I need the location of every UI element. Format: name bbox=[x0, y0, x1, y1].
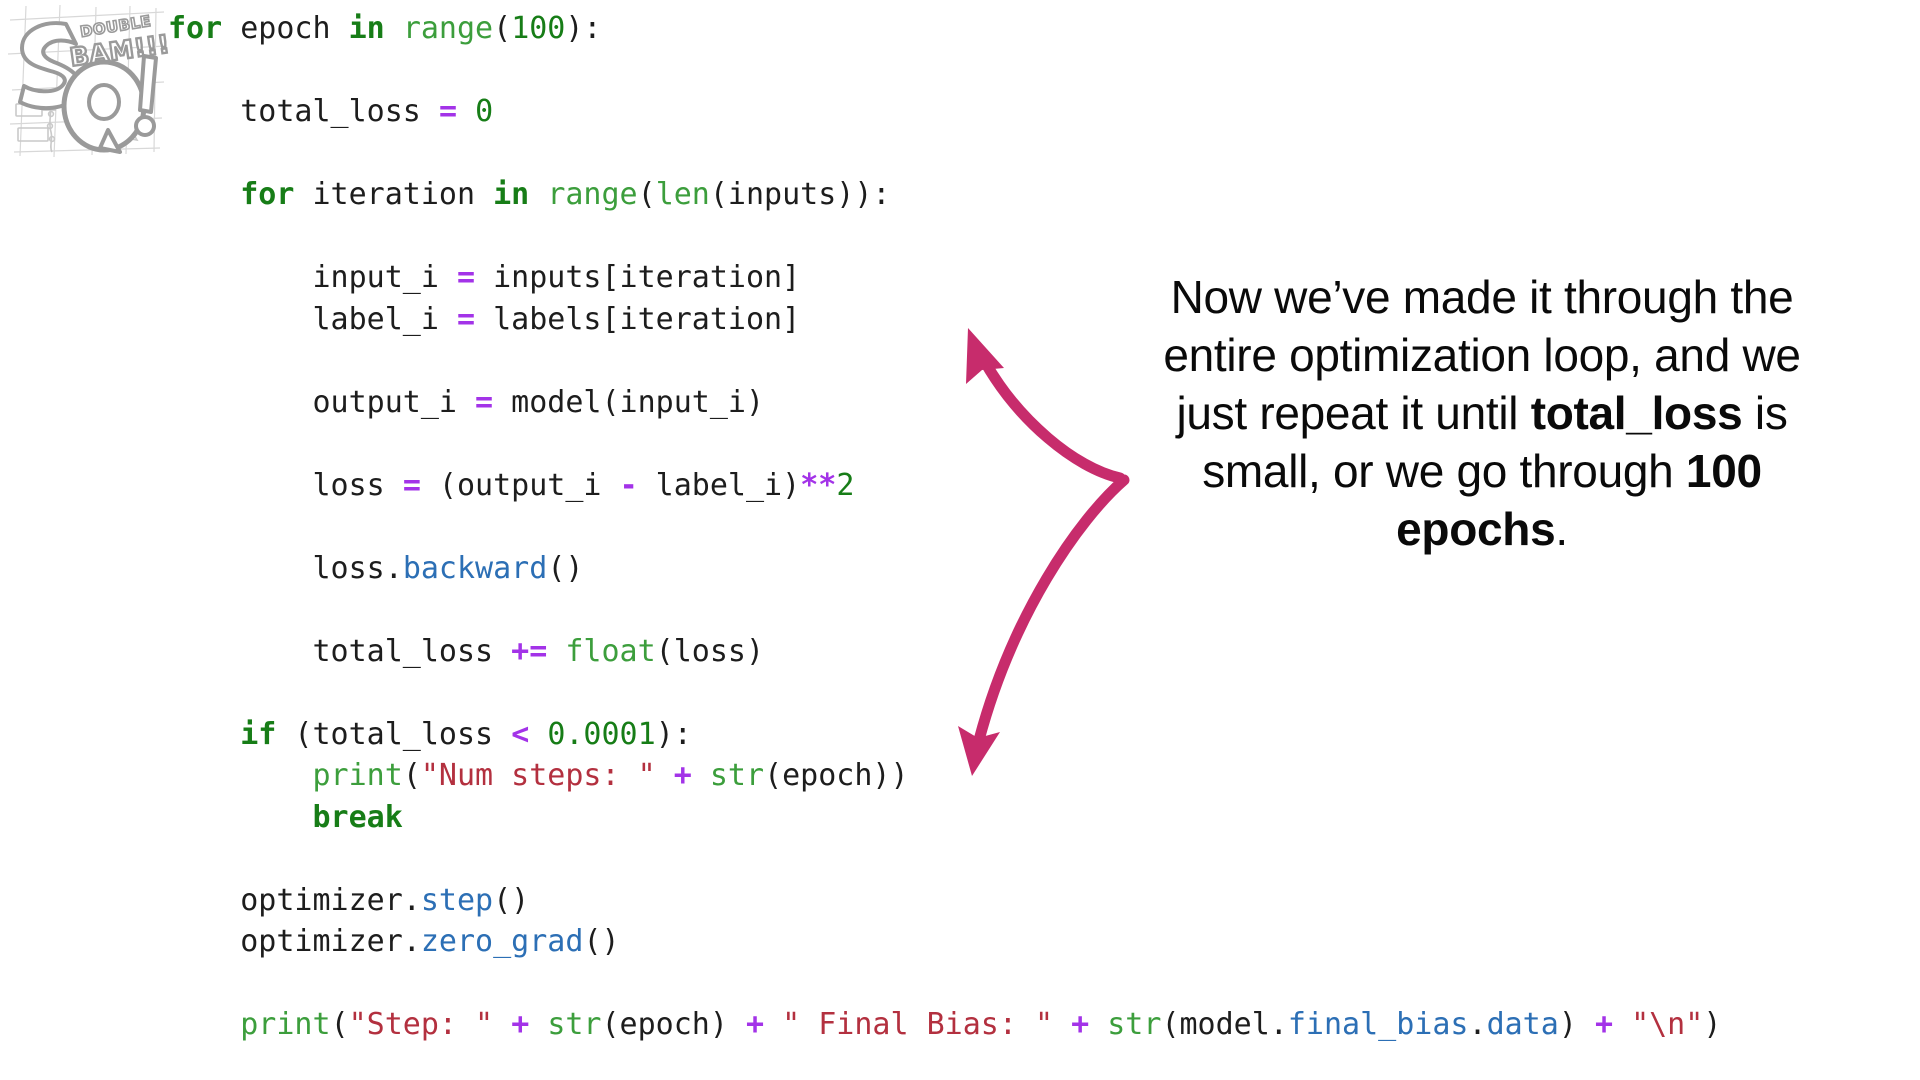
code-token-pln: ): bbox=[565, 11, 601, 46]
code-token-kw: if bbox=[240, 717, 276, 752]
code-token-op: = bbox=[439, 94, 457, 129]
code-token-kw: for bbox=[240, 177, 294, 212]
code-line: break bbox=[168, 797, 1288, 839]
code-line: for epoch in range(100): bbox=[168, 8, 1288, 50]
code-token-pln bbox=[529, 1007, 547, 1042]
code-line: loss = (output_i - label_i)**2 bbox=[168, 465, 1288, 507]
code-token-bif: str bbox=[710, 758, 764, 793]
code-token-pln: () bbox=[493, 883, 529, 918]
code-token-pln: optimizer. bbox=[168, 883, 421, 918]
code-token-pln: input_i bbox=[168, 260, 457, 295]
code-line: if (total_loss < 0.0001): bbox=[168, 714, 1288, 756]
code-token-pln: ) bbox=[1559, 1007, 1595, 1042]
code-token-op: + bbox=[746, 1007, 764, 1042]
code-token-pln: () bbox=[583, 924, 619, 959]
code-token-pln bbox=[1089, 1007, 1107, 1042]
code-token-pln: (inputs)): bbox=[710, 177, 891, 212]
code-token-pln bbox=[529, 717, 547, 752]
statquest-logo: DOUBLE BAM!!! bbox=[4, 2, 170, 162]
code-line: print("Step: " + str(epoch) + " Final Bi… bbox=[168, 1004, 1288, 1046]
code-token-pln bbox=[493, 1007, 511, 1042]
code-line: loss.backward() bbox=[168, 548, 1288, 590]
code-line bbox=[168, 589, 1288, 631]
code-token-pln: labels[iteration] bbox=[475, 302, 800, 337]
code-token-bif: str bbox=[1107, 1007, 1161, 1042]
code-token-pln: () bbox=[547, 551, 583, 586]
code-line bbox=[168, 50, 1288, 92]
code-line: optimizer.step() bbox=[168, 880, 1288, 922]
code-token-bif: print bbox=[313, 758, 403, 793]
code-token-str: " Final Bias: " bbox=[782, 1007, 1053, 1042]
code-token-pln: model(input_i) bbox=[493, 385, 764, 420]
code-token-pln: ( bbox=[403, 758, 421, 793]
code-token-pln: ( bbox=[493, 11, 511, 46]
code-token-op: = bbox=[457, 260, 475, 295]
code-token-bif: print bbox=[240, 1007, 330, 1042]
python-code-block: for epoch in range(100): total_loss = 0 … bbox=[168, 8, 1288, 1046]
code-token-op: < bbox=[511, 717, 529, 752]
code-token-op: - bbox=[620, 468, 638, 503]
code-line bbox=[168, 672, 1288, 714]
code-token-pln bbox=[385, 11, 403, 46]
code-token-pln bbox=[1613, 1007, 1631, 1042]
code-token-num: 0.0001 bbox=[547, 717, 655, 752]
code-token-attr: zero_grad bbox=[421, 924, 584, 959]
code-token-pln: (total_loss bbox=[276, 717, 511, 752]
code-token-attr: step bbox=[421, 883, 493, 918]
logo-letter-q bbox=[64, 62, 144, 152]
code-token-op: = bbox=[457, 302, 475, 337]
annotation-callout: Now we’ve made it through the entire opt… bbox=[1126, 268, 1838, 558]
code-token-pln: label_i bbox=[168, 302, 457, 337]
code-token-pln: (epoch)) bbox=[764, 758, 909, 793]
code-token-op: = bbox=[475, 385, 493, 420]
code-line: total_loss += float(loss) bbox=[168, 631, 1288, 673]
code-line: output_i = model(input_i) bbox=[168, 382, 1288, 424]
annotation-emphasis: total_loss bbox=[1531, 387, 1743, 439]
code-token-pln: loss. bbox=[168, 551, 403, 586]
code-line: optimizer.zero_grad() bbox=[168, 921, 1288, 963]
code-token-op: + bbox=[1595, 1007, 1613, 1042]
code-line bbox=[168, 506, 1288, 548]
code-line bbox=[168, 216, 1288, 258]
code-token-op: += bbox=[511, 634, 547, 669]
code-token-pln: ( bbox=[331, 1007, 349, 1042]
code-token-pln: total_loss bbox=[168, 634, 511, 669]
annotation-text: . bbox=[1555, 503, 1567, 555]
code-token-pln: ) bbox=[1703, 1007, 1721, 1042]
code-token-kw: in bbox=[493, 177, 529, 212]
code-line: label_i = labels[iteration] bbox=[168, 299, 1288, 341]
code-token-pln: iteration bbox=[294, 177, 493, 212]
code-line bbox=[168, 340, 1288, 382]
code-token-pln: loss bbox=[168, 468, 403, 503]
code-line bbox=[168, 423, 1288, 465]
code-line: for iteration in range(len(inputs)): bbox=[168, 174, 1288, 216]
code-token-str: "Step: " bbox=[349, 1007, 494, 1042]
code-token-pln bbox=[764, 1007, 782, 1042]
code-token-num: 0 bbox=[475, 94, 493, 129]
code-token-num: 2 bbox=[836, 468, 854, 503]
code-token-kw: for bbox=[168, 11, 222, 46]
code-token-pln bbox=[457, 94, 475, 129]
code-token-str: "Num steps: " bbox=[421, 758, 656, 793]
code-token-pln bbox=[168, 800, 313, 835]
code-token-pln bbox=[168, 177, 240, 212]
code-token-pln: . bbox=[1469, 1007, 1487, 1042]
code-token-pln: total_loss bbox=[168, 94, 439, 129]
code-token-pln bbox=[168, 717, 240, 752]
code-token-pln bbox=[656, 758, 674, 793]
code-token-op: = bbox=[403, 468, 421, 503]
code-token-pln: ): bbox=[656, 717, 692, 752]
code-token-pln: inputs[iteration] bbox=[475, 260, 800, 295]
code-token-str: "\n" bbox=[1631, 1007, 1703, 1042]
code-line bbox=[168, 133, 1288, 175]
code-token-op: ** bbox=[800, 468, 836, 503]
code-token-pln bbox=[168, 758, 313, 793]
code-line bbox=[168, 838, 1288, 880]
code-line: print("Num steps: " + str(epoch)) bbox=[168, 755, 1288, 797]
code-token-bif: len bbox=[656, 177, 710, 212]
code-token-pln: label_i) bbox=[638, 468, 801, 503]
code-token-pln: (output_i bbox=[421, 468, 620, 503]
code-token-bif: range bbox=[403, 11, 493, 46]
code-token-op: + bbox=[511, 1007, 529, 1042]
code-token-kw: break bbox=[313, 800, 403, 835]
code-token-pln: optimizer. bbox=[168, 924, 421, 959]
code-token-bif: range bbox=[547, 177, 637, 212]
code-token-kw: in bbox=[349, 11, 385, 46]
code-token-pln: (epoch) bbox=[602, 1007, 747, 1042]
code-token-pln: (loss) bbox=[656, 634, 764, 669]
code-token-op: + bbox=[1071, 1007, 1089, 1042]
code-token-pln bbox=[168, 1007, 240, 1042]
code-line: total_loss = 0 bbox=[168, 91, 1288, 133]
code-token-pln: ( bbox=[638, 177, 656, 212]
code-token-pln bbox=[547, 634, 565, 669]
statquest-logo-svg: DOUBLE BAM!!! bbox=[4, 2, 170, 162]
code-token-attr: data bbox=[1487, 1007, 1559, 1042]
code-line bbox=[168, 963, 1288, 1005]
code-token-pln bbox=[529, 177, 547, 212]
code-token-pln bbox=[692, 758, 710, 793]
code-token-op: + bbox=[674, 758, 692, 793]
code-token-pln: (model. bbox=[1161, 1007, 1287, 1042]
code-token-bif: float bbox=[565, 634, 655, 669]
code-token-pln bbox=[1053, 1007, 1071, 1042]
code-token-attr: final_bias bbox=[1288, 1007, 1469, 1042]
code-line: input_i = inputs[iteration] bbox=[168, 257, 1288, 299]
code-token-pln: output_i bbox=[168, 385, 475, 420]
code-token-num: 100 bbox=[511, 11, 565, 46]
code-token-bif: str bbox=[547, 1007, 601, 1042]
code-token-attr: backward bbox=[403, 551, 548, 586]
code-token-pln: epoch bbox=[222, 11, 348, 46]
